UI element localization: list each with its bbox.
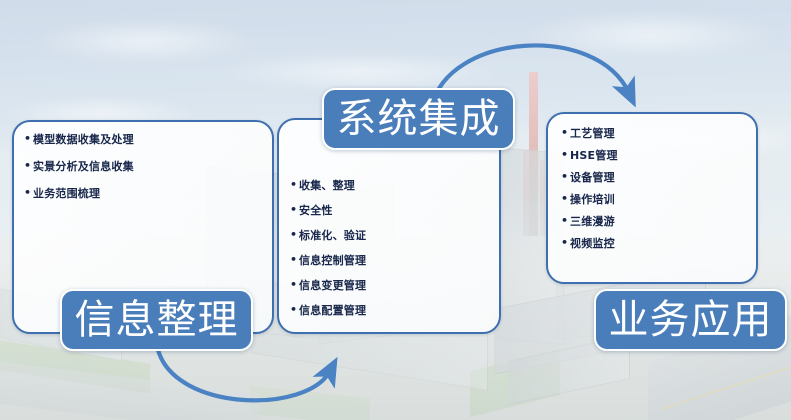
list-item: 信息配置管理 [290,305,499,316]
card-system-integration[interactable]: 收集、整理 安全性 标准化、验证 信息控制管理 信息变更管理 信息配置管理 [277,118,501,334]
list-item: 三维漫游 [561,216,756,227]
slide-canvas: 模型数据收集及处理 实景分析及信息收集 业务范围梳理 收集、整理 安全性 标准化… [0,0,791,420]
list-item: HSE管理 [561,150,756,161]
bullet-list-business-application: 工艺管理 HSE管理 设备管理 操作培训 三维漫游 视频监控 [548,114,756,249]
plaque-information-organizing[interactable]: 信息整理 [60,289,253,351]
list-item: 信息变更管理 [290,280,499,291]
list-item: 业务范围梳理 [24,188,272,199]
card-business-application[interactable]: 工艺管理 HSE管理 设备管理 操作培训 三维漫游 视频监控 [546,112,758,284]
list-item: 实景分析及信息收集 [24,161,272,172]
list-item: 设备管理 [561,172,756,183]
list-item: 视频监控 [561,238,756,249]
plaque-system-integration[interactable]: 系统集成 [322,88,515,150]
list-item: 安全性 [290,205,499,216]
list-item: 收集、整理 [290,180,499,191]
list-item: 操作培训 [561,194,756,205]
list-item: 信息控制管理 [290,255,499,266]
plaque-business-application[interactable]: 业务应用 [594,289,787,351]
list-item: 工艺管理 [561,128,756,139]
bullet-list-information-organizing: 模型数据收集及处理 实景分析及信息收集 业务范围梳理 [14,122,272,199]
list-item: 标准化、验证 [290,230,499,241]
arrow-left-to-middle [158,350,330,400]
list-item: 模型数据收集及处理 [24,134,272,145]
